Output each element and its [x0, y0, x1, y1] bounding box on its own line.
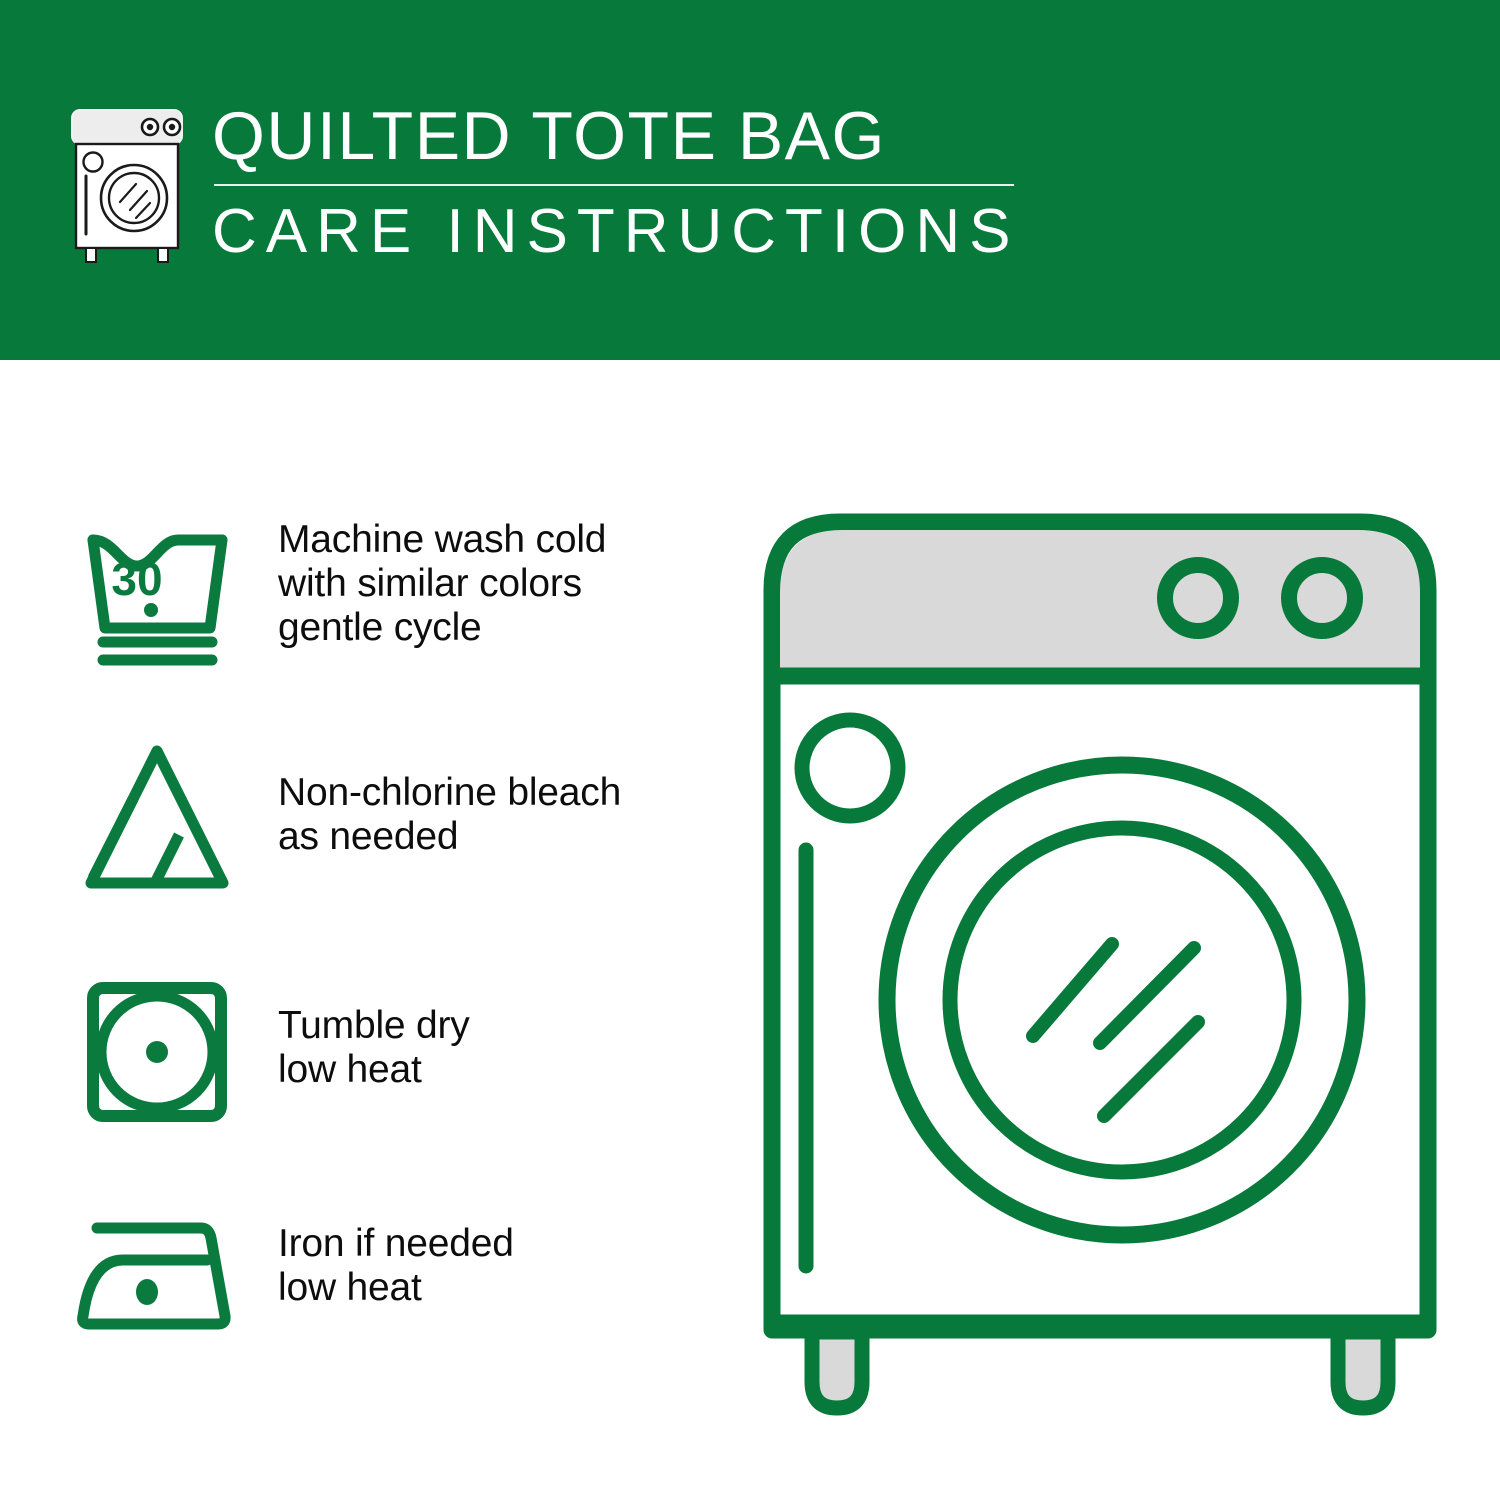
list-item-label: Non-chlorine bleach as needed — [278, 735, 621, 859]
list-item-label: Machine wash cold with similar colors ge… — [278, 510, 606, 650]
page-subtitle: CARE INSTRUCTIONS — [212, 196, 1027, 268]
knob-left-icon — [1165, 565, 1231, 631]
list-item: 30 Machine wash cold with similar colors… — [0, 510, 720, 675]
list-item: Non-chlorine bleach as needed — [0, 735, 720, 900]
knob-right-icon — [1289, 565, 1355, 631]
washing-machine-illustration — [740, 480, 1460, 1440]
list-item-label: Tumble dry low heat — [278, 970, 470, 1092]
leg-right — [1338, 1332, 1388, 1408]
header-banner: QUILTED TOTE BAG CARE INSTRUCTIONS — [0, 0, 1500, 360]
bleach-triangle-icon — [75, 735, 240, 900]
page-title: QUILTED TOTE BAG — [212, 96, 1027, 176]
svg-text:30: 30 — [111, 553, 162, 605]
indicator-light-icon — [802, 720, 898, 816]
list-item: Iron if needed low heat — [0, 1188, 720, 1353]
tumble-dry-icon — [75, 970, 240, 1135]
leg-left — [812, 1332, 862, 1408]
iron-icon — [75, 1188, 240, 1353]
header-text-block: QUILTED TOTE BAG CARE INSTRUCTIONS — [212, 96, 1027, 268]
washing-machine-icon — [62, 106, 192, 266]
title-divider — [214, 184, 1014, 186]
drum-inner-ring — [950, 828, 1294, 1172]
care-symbol-list: 30 Machine wash cold with similar colors… — [0, 360, 720, 1500]
list-item: Tumble dry low heat — [0, 970, 720, 1135]
care-instructions-page: QUILTED TOTE BAG CARE INSTRUCTIONS 30 Ma… — [0, 0, 1500, 1500]
list-item-label: Iron if needed low heat — [278, 1188, 514, 1310]
wash-tub-30-icon: 30 — [75, 510, 240, 675]
